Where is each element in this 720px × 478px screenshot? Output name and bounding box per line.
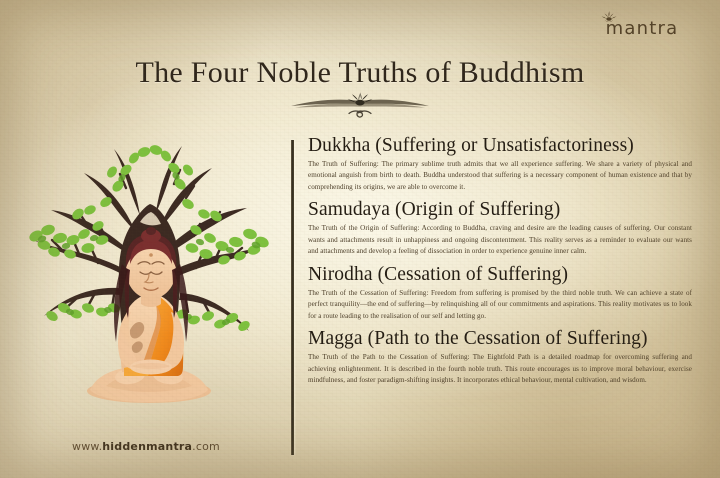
site-url[interactable]: www.hiddenmantra.com [72,440,220,453]
site-url-suffix: .com [192,440,220,453]
poster-canvas: mantra The Four Noble Truths of Buddhism [0,0,720,478]
brand-logo: mantra [582,10,702,56]
four-noble-truths-list: Dukkha (Suffering or Unsatisfactoriness)… [308,134,692,392]
lotus-flourish-ornament [275,88,445,122]
buddha-under-bodhi-tree-illustration [18,118,280,418]
truth-magga: Magga (Path to the Cessation of Sufferin… [308,327,692,386]
truth-body: The Truth of the Path to the Cessation o… [308,352,692,386]
site-url-prefix: www. [72,440,102,453]
truth-body: The Truth of the Origin of Suffering: Ac… [308,223,692,257]
title-ornament [0,88,720,122]
column-divider [291,140,294,455]
truth-dukkha: Dukkha (Suffering or Unsatisfactoriness)… [308,134,692,193]
truth-heading: Samudaya (Origin of Suffering) [308,198,692,221]
brand-name: mantra [582,20,702,38]
truth-heading: Magga (Path to the Cessation of Sufferin… [308,327,692,350]
truth-samudaya: Samudaya (Origin of Suffering) The Truth… [308,198,692,257]
truth-body: The Truth of the Cessation of Suffering:… [308,288,692,322]
truth-heading: Dukkha (Suffering or Unsatisfactoriness) [308,134,692,157]
site-url-brand: hiddenmantra [102,440,192,453]
page-title: The Four Noble Truths of Buddhism [0,56,720,90]
truth-body: The Truth of Suffering: The primary subl… [308,159,692,193]
truth-nirodha: Nirodha (Cessation of Suffering) The Tru… [308,263,692,322]
truth-heading: Nirodha (Cessation of Suffering) [308,263,692,286]
